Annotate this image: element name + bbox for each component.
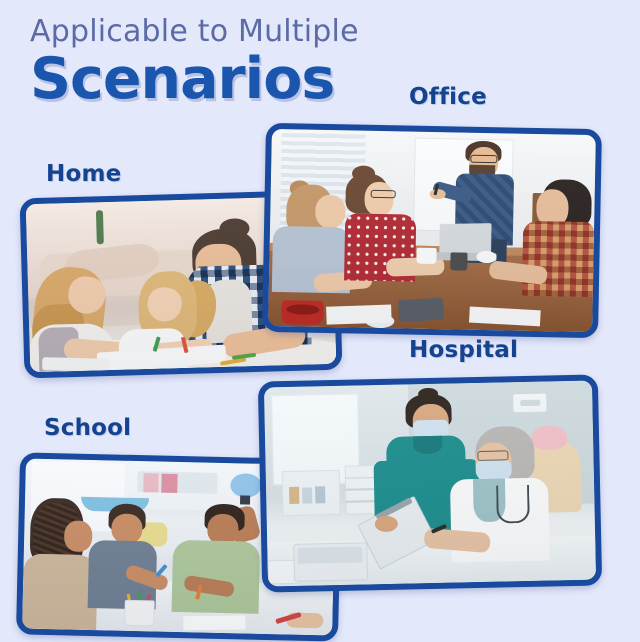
panel-label-hospital: Hospital bbox=[409, 337, 518, 363]
panel-label-home: Home bbox=[46, 161, 121, 187]
poster-canvas: Applicable to Multiple Scenarios Home Of… bbox=[0, 0, 640, 640]
panel-label-school: School bbox=[44, 415, 131, 441]
photo-panel-hospital[interactable] bbox=[258, 374, 602, 592]
photo-hospital bbox=[264, 381, 596, 587]
heading-subtitle: Applicable to Multiple bbox=[30, 14, 359, 50]
heading-main: Scenarios bbox=[30, 48, 359, 110]
photo-office bbox=[268, 129, 596, 332]
panel-label-office: Office bbox=[409, 84, 487, 110]
page-title: Applicable to Multiple Scenarios bbox=[30, 14, 359, 110]
photo-panel-office[interactable] bbox=[262, 123, 602, 338]
